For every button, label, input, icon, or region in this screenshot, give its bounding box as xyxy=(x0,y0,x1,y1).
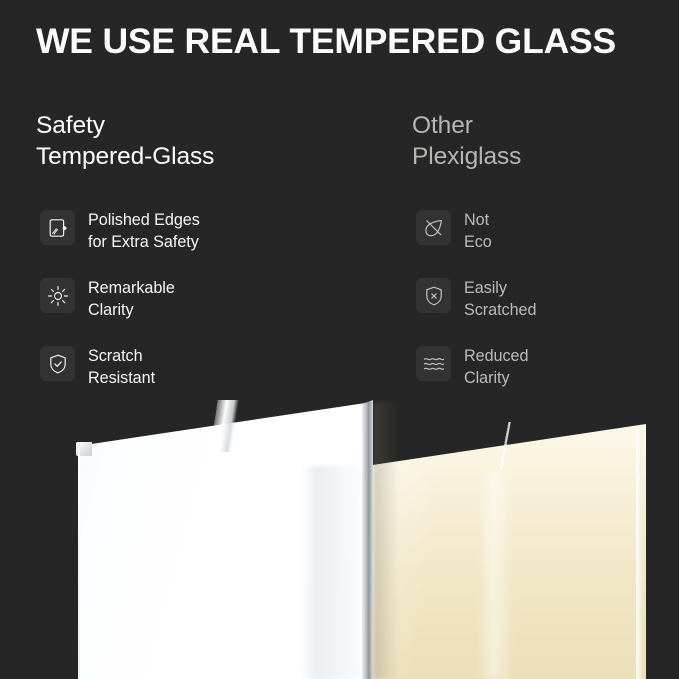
feature-list: Polished Edges for Extra Safety xyxy=(40,206,386,410)
feature-row: Polished Edges for Extra Safety xyxy=(40,206,386,274)
feature-row: Remarkable Clarity xyxy=(40,274,386,342)
tempered-glass-left-edge xyxy=(78,448,80,679)
feature-label: Remarkable Clarity xyxy=(88,274,175,321)
plexiglass-top-edge xyxy=(368,422,642,470)
column-title-line-1: Other xyxy=(412,110,672,141)
column-title: Safety Tempered-Glass xyxy=(36,110,386,172)
leaf-crossed-out-icon xyxy=(416,210,451,245)
feature-row: Not Eco xyxy=(416,206,672,274)
column-title: Other Plexiglass xyxy=(412,110,672,172)
feature-label-line-2: Clarity xyxy=(88,300,175,322)
product-photo xyxy=(0,386,679,679)
feature-label-line-2: Eco xyxy=(464,232,492,254)
feature-label-line-1: Scratch xyxy=(88,346,155,368)
infographic-canvas: WE USE REAL TEMPERED GLASS Safety Temper… xyxy=(0,0,679,679)
feature-label-line-1: Not xyxy=(464,210,492,232)
feature-label-line-1: Polished Edges xyxy=(88,210,200,232)
feature-label: Polished Edges for Extra Safety xyxy=(88,206,200,253)
sun-brightness-icon xyxy=(40,278,75,313)
column-title-line-2: Plexiglass xyxy=(412,141,672,172)
column-title-line-2: Tempered-Glass xyxy=(36,141,386,172)
feature-list: Not Eco Easily Scratched xyxy=(416,206,672,410)
feature-label-line-1: Easily xyxy=(464,278,536,300)
column-title-line-1: Safety xyxy=(36,110,386,141)
page-title: WE USE REAL TEMPERED GLASS xyxy=(36,21,652,61)
feature-label-line-2: Scratched xyxy=(464,300,536,322)
tempered-glass-reflection xyxy=(300,466,360,679)
tempered-glass-polished-bevel xyxy=(78,400,374,452)
feature-label: Not Eco xyxy=(464,206,492,253)
shield-check-icon xyxy=(40,346,75,381)
shield-x-icon xyxy=(416,278,451,313)
comparison-column-plexiglass: Other Plexiglass Not Eco xyxy=(412,110,672,172)
panel-overlap-shadow xyxy=(373,402,399,679)
feature-label-line-2: for Extra Safety xyxy=(88,232,200,254)
plexiglass-reflection xyxy=(478,472,512,679)
feature-label: Easily Scratched xyxy=(464,274,536,321)
feature-label-line-1: Remarkable xyxy=(88,278,175,300)
comparison-column-tempered-glass: Safety Tempered-Glass Polished Edges xyxy=(36,110,386,172)
feature-row: Easily Scratched xyxy=(416,274,672,342)
polished-panel-sparkle-icon xyxy=(40,210,75,245)
feature-label: Reduced Clarity xyxy=(464,342,528,389)
feature-label-line-1: Reduced xyxy=(464,346,528,368)
feature-label: Scratch Resistant xyxy=(88,342,155,389)
blur-waves-icon xyxy=(416,346,451,381)
